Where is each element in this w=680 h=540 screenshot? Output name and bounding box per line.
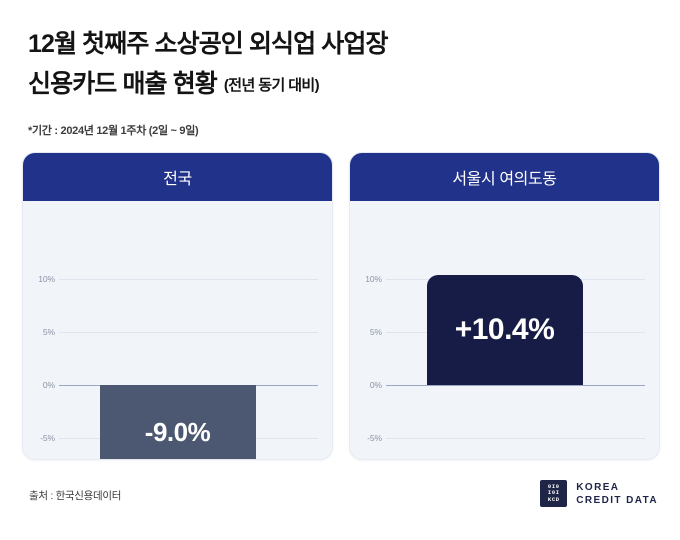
page-title-line-2: 신용카드 매출 현황(전년 동기 대비) <box>28 64 648 108</box>
plot-area-nationwide: 10% 5% 0% -5% -10% -9.0% <box>23 201 332 460</box>
kcd-logo-wordmark: KOREA CREDIT DATA <box>576 482 658 506</box>
ytick-0: 0% <box>23 380 55 390</box>
plot-area-yeouido: 10% 5% 0% -5% -10% +10.4% <box>350 201 659 460</box>
source-note: 출처 : 한국신용데이터 <box>29 488 121 503</box>
gridline-5 <box>59 332 318 333</box>
logo-mark-line-2: I0I <box>548 490 560 497</box>
gridline-0 <box>386 385 645 386</box>
ytick-10: 10% <box>350 274 382 284</box>
footer: 출처 : 한국신용데이터 0I0 I0I KCD KOREA CREDIT DA… <box>0 462 680 540</box>
card-title-nationwide: 전국 <box>163 165 192 189</box>
kcd-logo-mark-icon: 0I0 I0I KCD <box>540 480 567 507</box>
header: 12월 첫째주 소상공인 외식업 사업장 신용카드 매출 현황(전년 동기 대비… <box>28 24 648 138</box>
kcd-logo: 0I0 I0I KCD KOREA CREDIT DATA <box>540 480 658 507</box>
ytick-5: 5% <box>23 327 55 337</box>
bar-value-yeouido: +10.4% <box>455 313 555 347</box>
chart-cards: 전국 10% 5% 0% -5% -10% -9.0% 서울시 <box>22 152 660 462</box>
card-header-yeouido: 서울시 여의도동 <box>350 153 659 201</box>
gridline-neg5 <box>386 438 645 439</box>
period-note: *기간 : 2024년 12월 1주차 (2일 ~ 9일) <box>28 122 648 138</box>
card-title-yeouido: 서울시 여의도동 <box>452 165 556 189</box>
logo-mark-line-1: 0I0 <box>548 484 560 491</box>
chart-card-nationwide: 전국 10% 5% 0% -5% -10% -9.0% <box>22 152 333 460</box>
bar-yeouido: +10.4% <box>427 275 583 385</box>
card-header-nationwide: 전국 <box>23 153 332 201</box>
page-title-suffix: (전년 동기 대비) <box>224 77 319 94</box>
ytick-neg5: -5% <box>23 433 55 443</box>
ytick-10: 10% <box>23 274 55 284</box>
chart-card-yeouido: 서울시 여의도동 10% 5% 0% -5% -10% +10.4% <box>349 152 660 460</box>
logo-name-line-1: KOREA <box>576 482 658 493</box>
ytick-0: 0% <box>350 380 382 390</box>
logo-mark-line-3: KCD <box>548 497 560 504</box>
bar-value-nationwide: -9.0% <box>145 417 210 448</box>
infographic-page: 12월 첫째주 소상공인 외식업 사업장 신용카드 매출 현황(전년 동기 대비… <box>0 0 680 540</box>
gridline-10 <box>59 279 318 280</box>
ytick-5: 5% <box>350 327 382 337</box>
ytick-neg5: -5% <box>350 433 382 443</box>
bar-nationwide: -9.0% <box>100 385 256 460</box>
page-title-line-1: 12월 첫째주 소상공인 외식업 사업장 <box>28 24 648 64</box>
logo-name-line-2: CREDIT DATA <box>576 495 658 506</box>
page-title-main: 신용카드 매출 현황 <box>28 70 217 98</box>
